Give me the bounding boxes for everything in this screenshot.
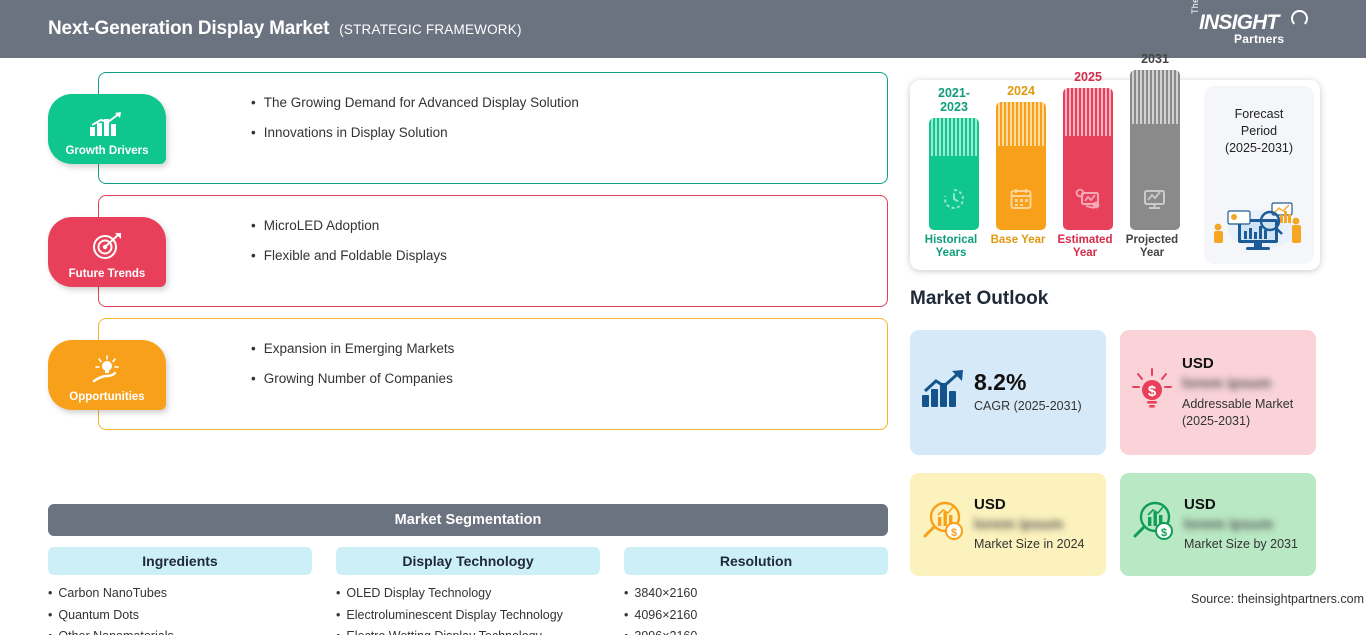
clock-history-icon [942, 187, 966, 216]
bar-category-label: Historical Years [920, 234, 982, 260]
page-subtitle: (STRATEGIC FRAMEWORK) [339, 22, 521, 37]
card-market-size-2024[interactable]: $ USD lorem ipsum Market Size in 2024 [910, 473, 1106, 576]
card-text: USD lorem ipsum Market Size in 2024 [974, 496, 1096, 554]
market-segmentation-columns: Ingredients Carbon NanoTubes Quantum Dot… [48, 547, 888, 635]
cagr-value: 8.2% [974, 370, 1096, 395]
list-item: Growing Number of Companies [251, 371, 871, 387]
badge-opportunities[interactable]: Opportunities [48, 340, 166, 410]
list-item: Expansion in Emerging Markets [251, 341, 871, 357]
card-addressable-market[interactable]: $ USD lorem ipsum Addressable Market (20… [1120, 330, 1316, 455]
segmentation-column-display-technology: Display Technology OLED Display Technolo… [336, 547, 600, 635]
magnifier-chart-dollar-icon: $ [1130, 500, 1176, 549]
column-items: OLED Display Technology Electroluminesce… [336, 587, 600, 635]
magnifier-chart-dollar-icon: $ [920, 500, 966, 549]
forecast-line-3: (2025-2031) [1225, 140, 1293, 157]
bar-chart-growth-icon [88, 111, 126, 142]
study-period-timeline-chart: 2021-2023 Historical Years [910, 80, 1320, 270]
badge-growth-drivers[interactable]: Growth Drivers [48, 94, 166, 164]
bar-year-label: 2031 [1127, 52, 1183, 66]
bar-year-label: 2024 [993, 84, 1049, 98]
blurred-value: lorem ipsum [1182, 375, 1306, 394]
cagr-label: CAGR (2025-2031) [974, 398, 1096, 415]
market-segmentation-title: Market Segmentation [48, 504, 888, 536]
bar-projected-year: 2031 [1127, 70, 1183, 230]
list-item: Other Nanomaterials [48, 630, 312, 635]
bar-year-label: 2025 [1060, 70, 1116, 84]
growth-drivers-panel: The Growing Demand for Advanced Display … [98, 72, 888, 184]
card-label: Market Size in 2024 [974, 536, 1096, 553]
column-header: Display Technology [336, 547, 600, 575]
page-title: Next-Generation Display Market [48, 18, 329, 40]
bar-shape [1063, 88, 1113, 230]
list-item: 4096×2160 [624, 609, 888, 622]
bar-shape [1130, 70, 1180, 230]
growth-drivers-bullet-list: The Growing Demand for Advanced Display … [251, 95, 871, 155]
insight-partners-logo: The INSIGHT Partners [1190, 9, 1310, 51]
infographic-page: Next-Generation Display Market (STRATEGI… [0, 0, 1366, 635]
list-item: Quantum Dots [48, 609, 312, 622]
bar-historical-years: 2021-2023 Historical Years [926, 118, 982, 230]
future-trends-bullet-list: MicroLED Adoption Flexible and Foldable … [251, 218, 871, 278]
bar-solid-body [1130, 124, 1180, 230]
column-header: Resolution [624, 547, 888, 575]
market-outlook-title: Market Outlook [910, 288, 1048, 310]
calendar-icon [1009, 187, 1033, 216]
column-items: Carbon NanoTubes Quantum Dots Other Nano… [48, 587, 312, 635]
bar-stripe-top [996, 102, 1046, 146]
list-item: 3840×2160 [624, 587, 888, 600]
bar-estimated-year: 2025 [1060, 88, 1116, 230]
right-column: 2021-2023 Historical Years [908, 58, 1366, 635]
opportunities-bullet-list: Expansion in Emerging Markets Growing Nu… [251, 341, 871, 401]
badge-label: Growth Drivers [65, 145, 148, 158]
list-item: 3996×2160 [624, 630, 888, 635]
list-item: Innovations in Display Solution [251, 125, 871, 141]
list-item: The Growing Demand for Advanced Display … [251, 95, 871, 111]
svg-text:$: $ [1161, 527, 1167, 539]
currency-label: USD [974, 496, 1096, 514]
left-column: The Growing Demand for Advanced Display … [0, 58, 900, 635]
list-item: MicroLED Adoption [251, 218, 871, 234]
bar-stripe-top [1130, 70, 1180, 124]
svg-text:$: $ [951, 527, 957, 539]
card-text: USD lorem ipsum Addressable Market (2025… [1182, 355, 1306, 430]
bar-year-label: 2021-2023 [926, 86, 982, 114]
list-item: Electroluminescent Display Technology [336, 609, 600, 622]
forecast-line-2: Period [1241, 123, 1277, 140]
bar-base-year: 2024 [993, 102, 1049, 230]
bar-category-label: Projected Year [1121, 234, 1183, 260]
opportunities-panel: Expansion in Emerging Markets Growing Nu… [98, 318, 888, 430]
analytics-gear-icon [1075, 187, 1101, 216]
badge-label: Future Trends [69, 268, 146, 281]
svg-text:$: $ [1148, 383, 1157, 400]
column-items: 3840×2160 4096×2160 3996×2160 [624, 587, 888, 635]
bar-shape [996, 102, 1046, 230]
list-item: Carbon NanoTubes [48, 587, 312, 600]
future-trends-panel: MicroLED Adoption Flexible and Foldable … [98, 195, 888, 307]
lightbulb-dollar-icon: $ [1130, 367, 1174, 418]
bar-category-label: Base Year [987, 234, 1049, 247]
presentation-chart-icon [1142, 187, 1168, 216]
card-text: USD lorem ipsum Market Size by 2031 [1184, 496, 1306, 554]
card-label: Addressable Market (2025-2031) [1182, 396, 1306, 430]
currency-label: USD [1182, 355, 1306, 373]
dashboard-analytics-illustration [1208, 189, 1308, 256]
logo-partners-text: Partners [1234, 32, 1284, 46]
lightbulb-hand-icon [88, 355, 126, 388]
list-item: OLED Display Technology [336, 587, 600, 600]
bar-stripe-top [929, 118, 979, 156]
timeline-bars: 2021-2023 Historical Years [926, 88, 1196, 268]
bar-chart-arrow-icon [920, 369, 966, 416]
page-header: Next-Generation Display Market (STRATEGI… [0, 0, 1366, 58]
target-dart-icon [90, 232, 124, 265]
list-item: Flexible and Foldable Displays [251, 248, 871, 264]
currency-label: USD [1184, 496, 1306, 514]
card-cagr[interactable]: 8.2% CAGR (2025-2031) [910, 330, 1106, 455]
blurred-value: lorem ipsum [974, 516, 1096, 535]
card-label: Market Size by 2031 [1184, 536, 1306, 553]
bar-stripe-top [1063, 88, 1113, 136]
bar-solid-body [996, 146, 1046, 230]
card-market-size-2031[interactable]: $ USD lorem ipsum Market Size by 2031 [1120, 473, 1316, 576]
badge-label: Opportunities [69, 391, 144, 404]
forecast-period-panel: Forecast Period (2025-2031) [1204, 86, 1314, 264]
bar-solid-body [1063, 136, 1113, 230]
segmentation-column-resolution: Resolution 3840×2160 4096×2160 3996×2160 [624, 547, 888, 635]
list-item: Electro Wetting Display Technology [336, 630, 600, 635]
bar-category-label: Estimated Year [1054, 234, 1116, 260]
source-attribution: Source: theinsightpartners.com [1191, 592, 1364, 606]
bar-shape [929, 118, 979, 230]
forecast-line-1: Forecast [1235, 106, 1284, 123]
segmentation-column-ingredients: Ingredients Carbon NanoTubes Quantum Dot… [48, 547, 312, 635]
logo-ring-icon [1291, 10, 1308, 27]
badge-future-trends[interactable]: Future Trends [48, 217, 166, 287]
blurred-value: lorem ipsum [1184, 516, 1306, 535]
card-text: 8.2% CAGR (2025-2031) [974, 370, 1096, 414]
bar-solid-body [929, 156, 979, 230]
column-header: Ingredients [48, 547, 312, 575]
header-title-group: Next-Generation Display Market (STRATEGI… [48, 18, 522, 40]
